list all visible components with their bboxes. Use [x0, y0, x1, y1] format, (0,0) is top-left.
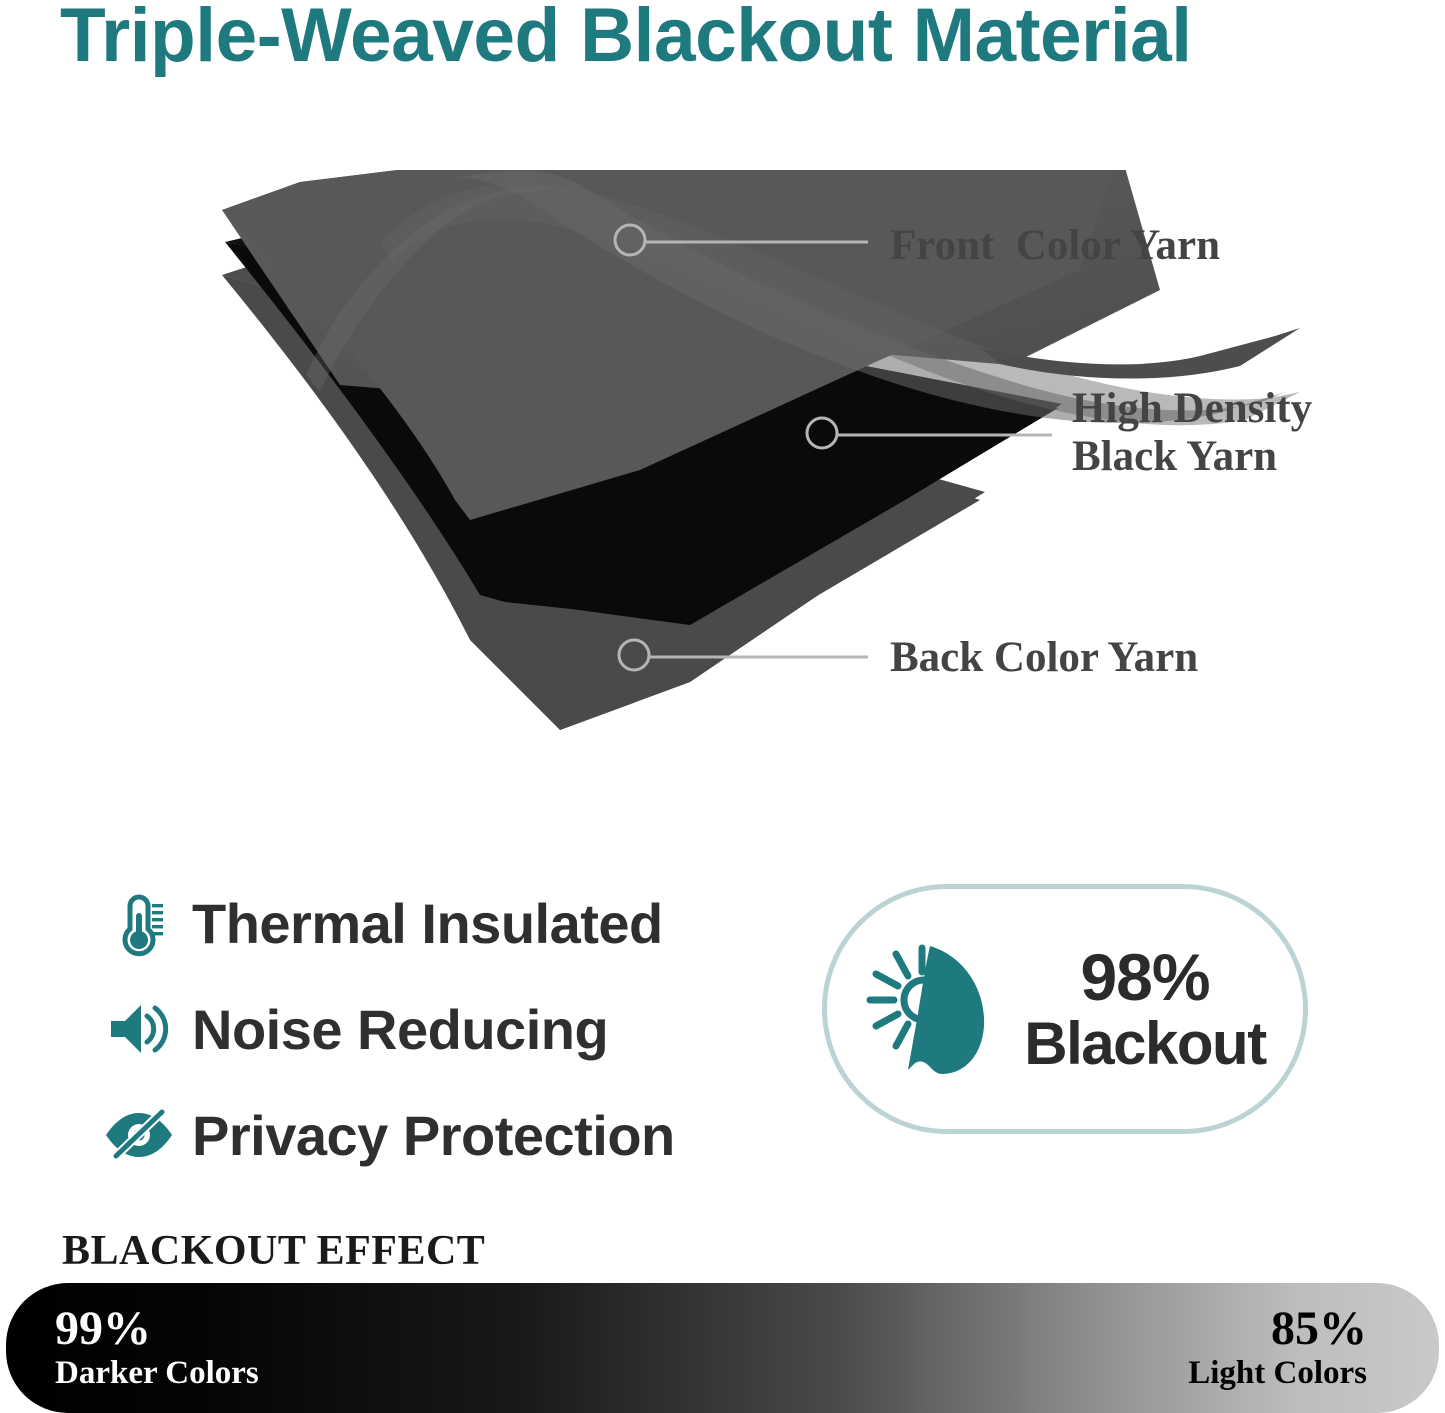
sun-blocked-icon: [858, 934, 1000, 1085]
feature-label-thermal-insulated: Thermal Insulated: [192, 891, 663, 956]
blackout-stat-light-colors: 85% Light Colors: [1188, 1305, 1367, 1390]
feature-item-privacy-protection: Privacy Protection: [100, 1090, 760, 1180]
feature-label-noise-reducing: Noise Reducing: [192, 997, 608, 1062]
thermometer-icon: [100, 887, 178, 959]
page-title: Triple-Weaved Blackout Material: [60, 0, 1400, 76]
speaker-sound-icon: [100, 1000, 178, 1058]
blackout-effect-heading: BLACKOUT EFFECT: [62, 1227, 485, 1275]
callout-label-front: Front Color Yarn: [890, 222, 1220, 270]
feature-label-privacy-protection: Privacy Protection: [192, 1103, 675, 1168]
light-colors-label: Light Colors: [1188, 1357, 1367, 1390]
blackout-percent-value: 98%: [1024, 944, 1265, 1010]
callout-label-high-density: High DensityBlack Yarn: [1072, 385, 1312, 481]
darker-colors-label: Darker Colors: [55, 1357, 259, 1390]
callout-label-high-density-line1: High Density: [1072, 385, 1312, 432]
callout-label-high-density-line2: Black Yarn: [1072, 433, 1277, 480]
blackout-badge-text: 98% Blackout: [1024, 944, 1265, 1074]
eye-slash-icon: [100, 1109, 178, 1161]
feature-item-noise-reducing: Noise Reducing: [100, 984, 760, 1074]
blackout-percentage-badge: 98% Blackout: [822, 884, 1308, 1134]
feature-list: Thermal Insulated Noise Reducing Privacy…: [100, 878, 760, 1196]
darker-colors-percent: 99%: [55, 1305, 259, 1353]
light-colors-percent: 85%: [1188, 1305, 1367, 1353]
blackout-word-label: Blackout: [1024, 1014, 1265, 1074]
callout-label-back: Back Color Yarn: [890, 634, 1198, 682]
feature-item-thermal-insulated: Thermal Insulated: [100, 878, 760, 968]
blackout-stat-darker-colors: 99% Darker Colors: [55, 1305, 259, 1390]
